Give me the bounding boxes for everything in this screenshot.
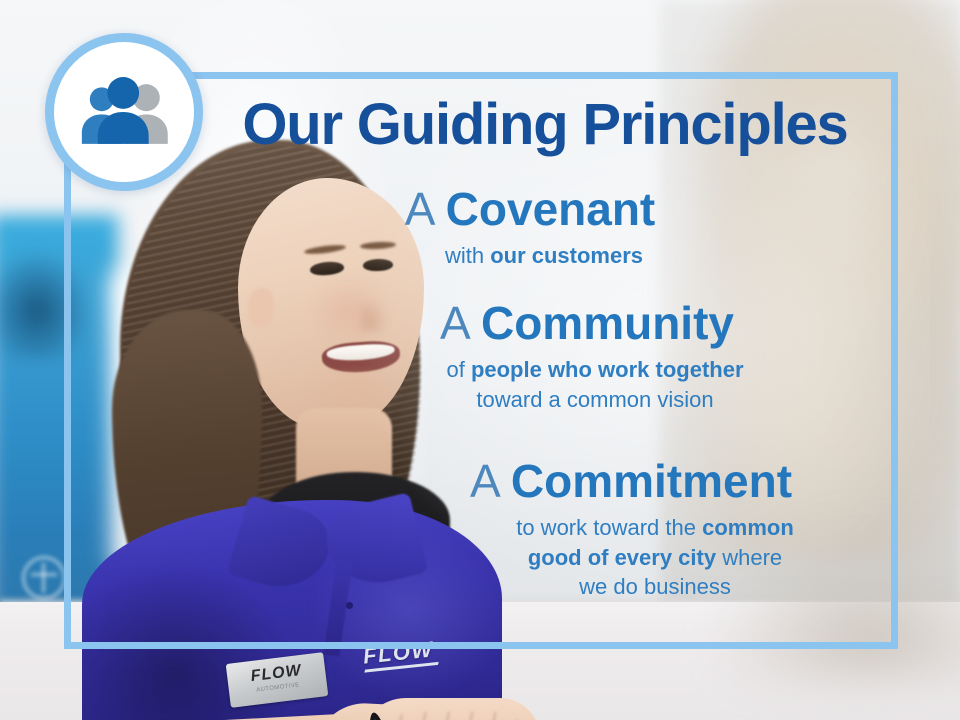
principle-article: A [405,183,446,235]
group-of-people-icon [76,77,172,147]
principle-title: A Community [300,300,860,348]
subtext-emphasis: common [702,515,794,540]
principle-title: A Covenant [250,186,810,234]
shirt-button [346,602,353,609]
subtext-plain: of [446,357,470,382]
subtext-plain: to work toward the [516,515,702,540]
principle-subtext: with our customers [250,241,810,271]
subtext-plain: we do business [579,574,731,599]
people-badge [45,33,203,191]
principle-article: A [440,297,481,349]
subtext-emphasis: good of every city [528,545,716,570]
principle-subtext: to work toward the commongood of every c… [340,513,900,602]
principle-subtext-line: of people who work together [330,355,860,385]
principle-keyword: Covenant [446,183,656,235]
principle-keyword: Community [481,297,734,349]
subtext-plain: where [716,545,782,570]
principle-subtext-line: we do business [410,572,900,602]
ear [248,288,274,328]
principle-commitment: A Commitment to work toward the commongo… [340,458,900,602]
subtext-plain: with [445,243,490,268]
principle-subtext-line: good of every city where [410,543,900,573]
principle-keyword: Commitment [511,455,792,507]
subtext-emphasis: people who work together [471,357,744,382]
banner-graphic: FLOW AUTOMOTIVE FLOW [0,0,960,720]
principle-covenant: A Covenant with our customers [250,186,810,271]
page-title: Our Guiding Principles [215,96,875,154]
principle-subtext: of people who work togethertoward a comm… [300,355,860,414]
principle-community: A Community of people who work togethert… [300,300,860,414]
subtext-emphasis: our customers [490,243,643,268]
principle-subtext-line: with our customers [278,241,810,271]
principle-article: A [470,455,511,507]
principle-subtext-line: toward a common vision [330,385,860,415]
principle-title: A Commitment [340,458,900,506]
principle-subtext-line: to work toward the common [410,513,900,543]
subtext-plain: toward a common vision [476,387,713,412]
